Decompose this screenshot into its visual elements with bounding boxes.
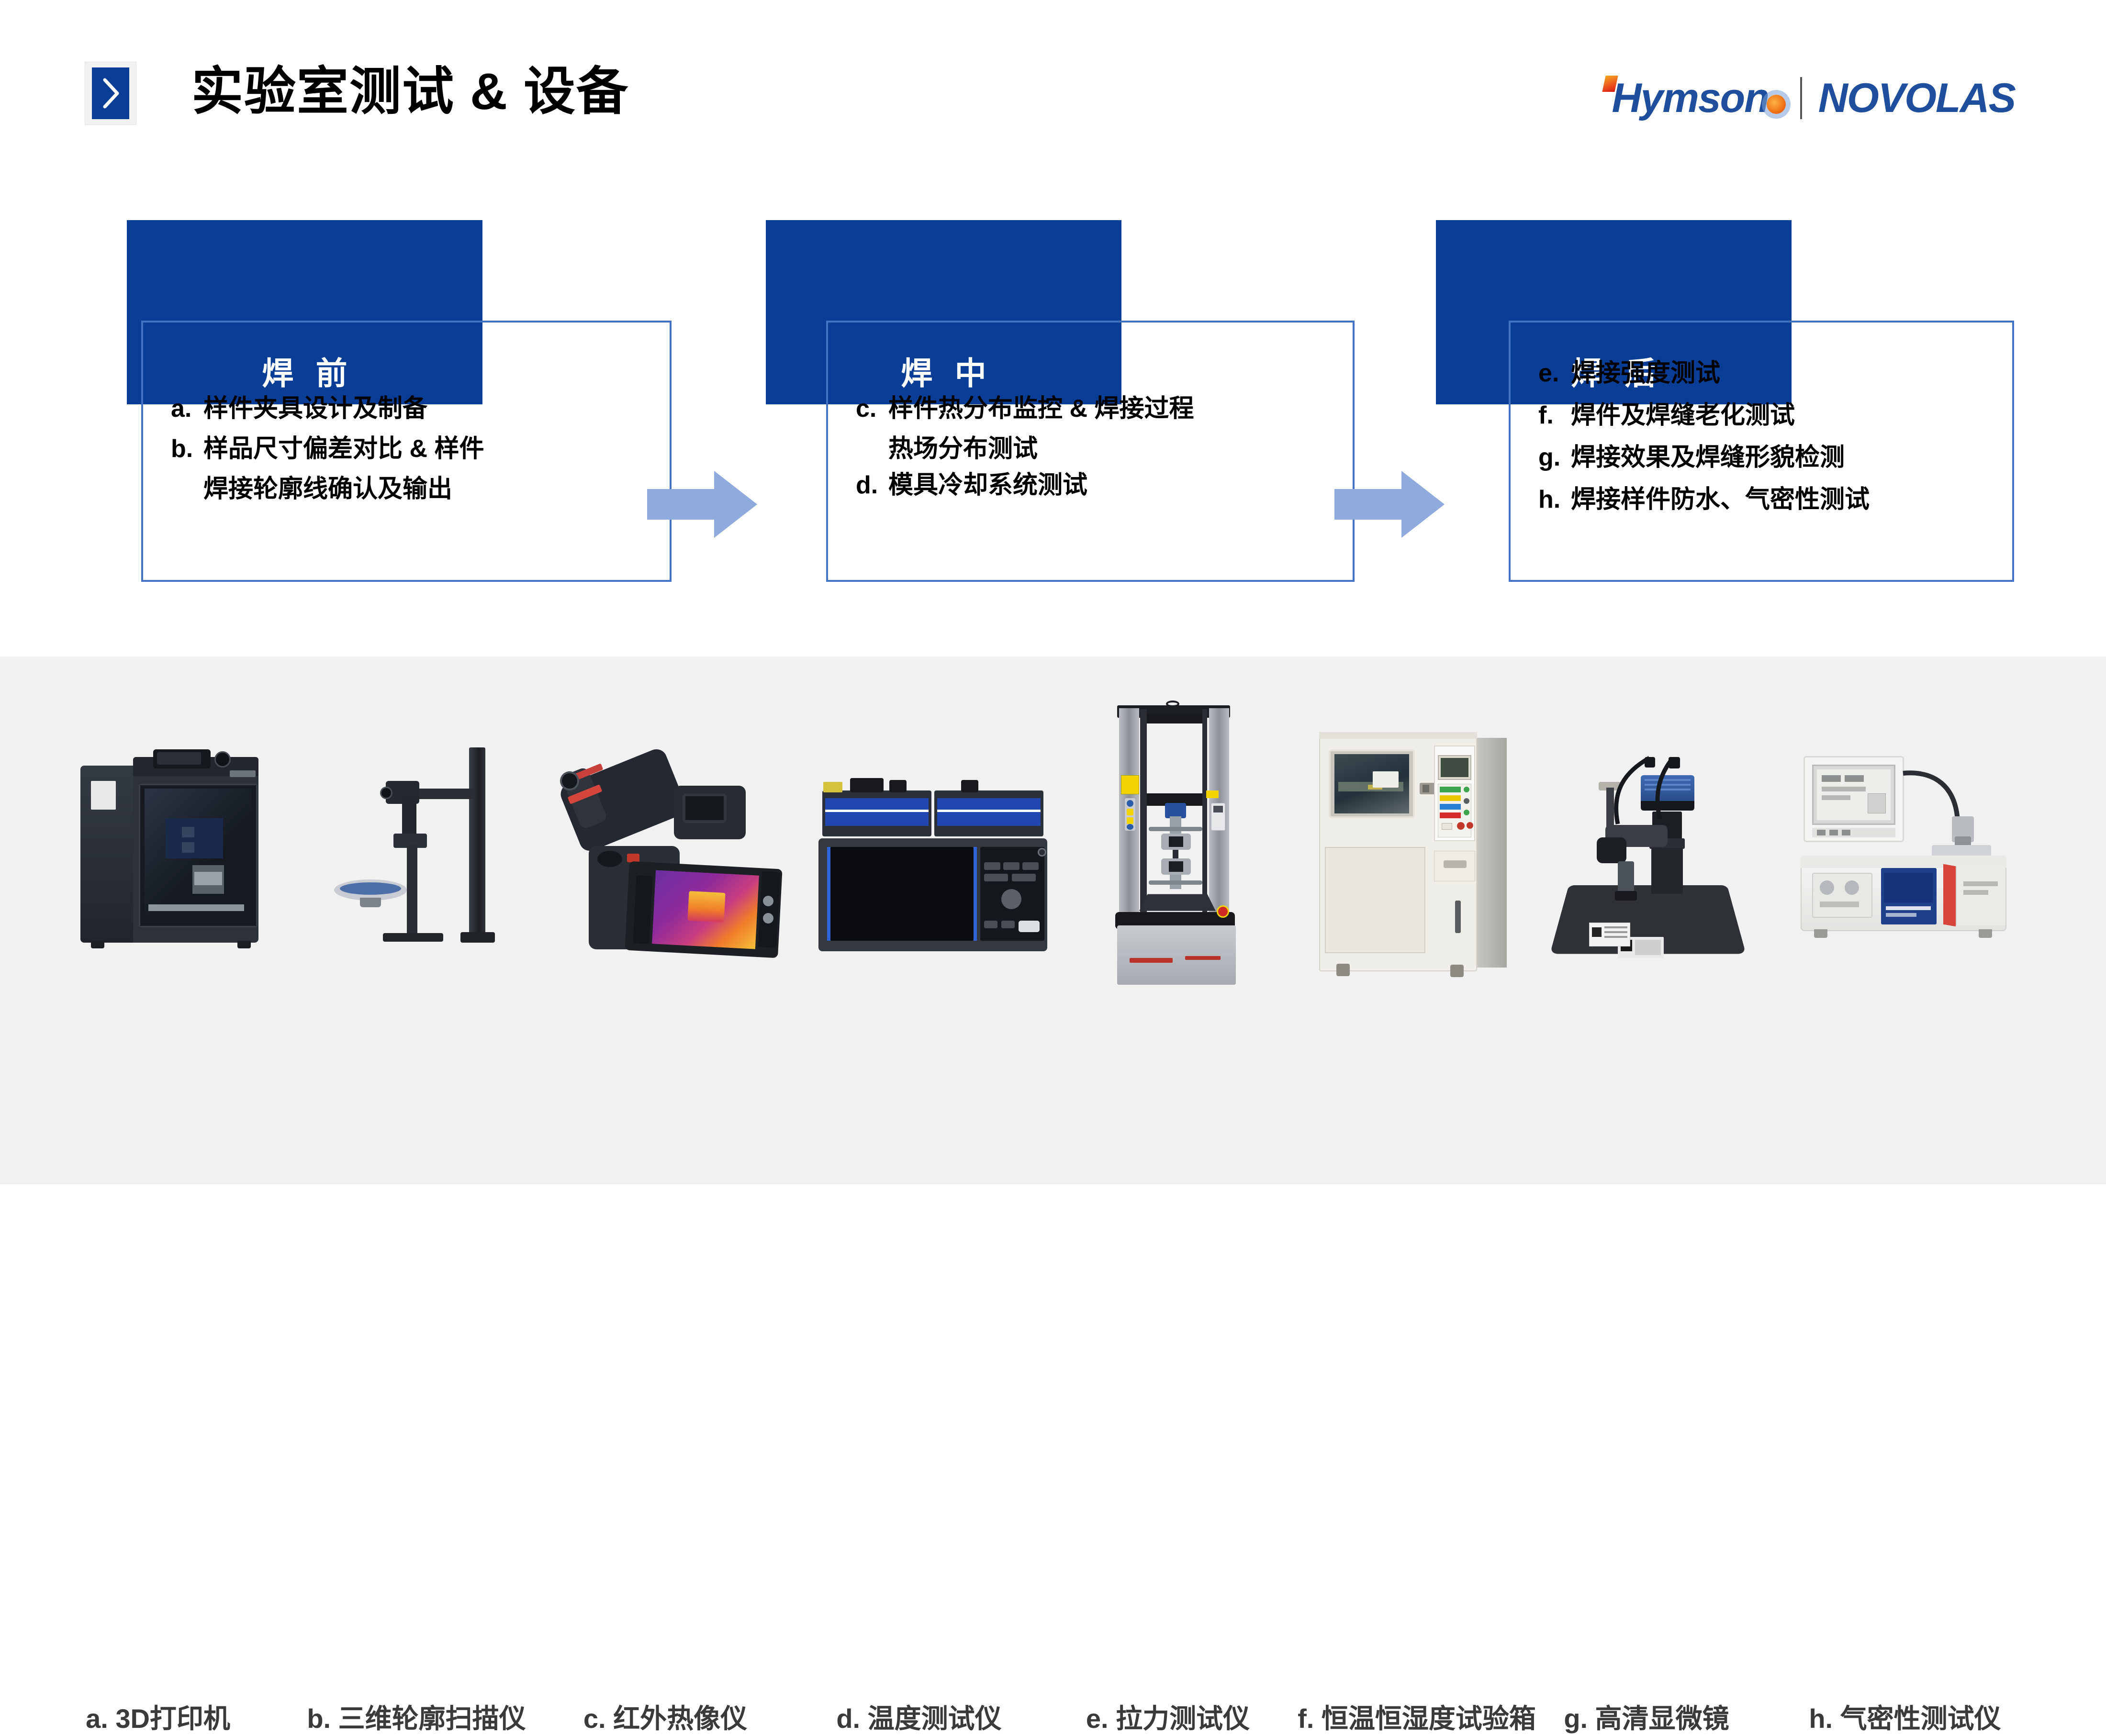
page-header: 实验室测试 & 设备 Hymson NOVOLAS — [0, 0, 2106, 172]
equipment-item-climate-chamber[interactable] — [1292, 709, 1517, 987]
list-item: e. 焊接强度测试 — [1538, 354, 2036, 392]
equipment-item-temperature-logger[interactable] — [809, 771, 1058, 963]
process-flow: 焊 前 a. 样件夹具设计及制备 b. 样品尺寸偏差对比 & 样件 焊接轮廓线确… — [0, 206, 2106, 627]
list-item: d. 模具冷却系统测试 — [856, 467, 1354, 503]
item-marker: h. — [1538, 480, 1571, 519]
equipment-gallery: a. 3D打印机 b. 三维轮廓扫描仪 — [0, 657, 2106, 1184]
stage-card-pre-weld[interactable]: 焊 前 a. 样件夹具设计及制备 b. 样品尺寸偏差对比 & 样件 焊接轮廓线确… — [127, 206, 668, 627]
microscope-photo — [1546, 747, 1752, 977]
item-text: 焊件及焊缝老化测试 — [1571, 396, 2036, 434]
list-item: a. 样件夹具设计及制备 — [171, 390, 669, 427]
item-text-continued: 焊接轮廓线确认及输出 — [171, 471, 669, 507]
temperature-logger-photo — [809, 771, 1058, 963]
stage-items-in-weld: c. 样件热分布监控 & 焊接过程 热场分布测试 d. 模具冷却系统测试 — [856, 390, 1354, 507]
equipment-caption-temperature-logger: d. 温度测试仪 — [804, 1697, 1034, 1736]
equipment-item-airtightness-tester[interactable] — [1785, 743, 2025, 968]
equipment-caption-microscope: g. 高清显微镜 — [1532, 1697, 1761, 1736]
list-item: f. 焊件及焊缝老化测试 — [1538, 396, 2036, 434]
list-item: h. 焊接样件防水、气密性测试 — [1538, 480, 2036, 519]
item-text-continued: 热场分布测试 — [856, 431, 1354, 467]
stage-items-pre-weld: a. 样件夹具设计及制备 b. 样品尺寸偏差对比 & 样件 焊接轮廓线确认及输出 — [171, 390, 669, 507]
item-text: 样件热分布监控 & 焊接过程 — [888, 390, 1354, 427]
logo-separator — [1800, 77, 1802, 119]
equipment-item-profile-scanner[interactable] — [330, 743, 536, 958]
3d-printer-photo — [72, 728, 297, 958]
thermal-camera-photo — [560, 752, 785, 958]
airtightness-tester-photo — [1785, 743, 2025, 968]
right-arrow-icon — [647, 471, 757, 540]
chevron-right-icon — [92, 67, 129, 119]
item-text: 样件夹具设计及制备 — [203, 390, 669, 427]
item-text: 焊接效果及焊缝形貌检测 — [1571, 438, 2036, 477]
item-marker: d. — [856, 467, 888, 503]
item-marker: c. — [856, 390, 888, 427]
item-marker: a. — [171, 390, 203, 427]
right-arrow-icon — [1334, 471, 1445, 540]
climate-chamber-photo — [1292, 709, 1517, 987]
list-item: g. 焊接效果及焊缝形貌检测 — [1538, 438, 2036, 477]
logo-hymson: Hymson — [1599, 78, 1783, 119]
item-text: 焊接样件防水、气密性测试 — [1571, 480, 2036, 519]
item-marker: g. — [1538, 438, 1571, 477]
equipment-caption-airtightness-tester: h. 气密性测试仪 — [1771, 1697, 2039, 1736]
equipment-item-thermal-camera[interactable] — [560, 752, 785, 958]
item-marker: b. — [171, 431, 203, 467]
item-text: 样品尺寸偏差对比 & 样件 — [203, 431, 669, 467]
logo-novolas: NOVOLAS — [1818, 78, 2015, 119]
title-badge — [85, 62, 136, 124]
logo-orb-icon — [1767, 95, 1786, 114]
equipment-item-3d-printer[interactable] — [72, 728, 297, 958]
brand-logo: Hymson NOVOLAS — [1599, 72, 2015, 124]
stage-card-in-weld[interactable]: 焊 中 c. 样件热分布监控 & 焊接过程 热场分布测试 d. 模具冷却系统测试 — [766, 206, 1307, 627]
item-marker: e. — [1538, 354, 1571, 392]
item-text: 模具冷却系统测试 — [888, 467, 1354, 503]
equipment-item-microscope[interactable] — [1546, 747, 1752, 977]
equipment-caption-profile-scanner: b. 三维轮廓扫描仪 — [287, 1697, 546, 1736]
equipment-item-tensile-tester[interactable] — [1096, 690, 1278, 987]
item-text: 焊接强度测试 — [1571, 354, 2036, 392]
equipment-caption-climate-chamber: f. 恒温恒湿度试验箱 — [1268, 1697, 1565, 1736]
profile-scanner-photo — [330, 743, 536, 958]
stage-items-post-weld: e. 焊接强度测试 f. 焊件及焊缝老化测试 g. 焊接效果及焊缝形貌检测 h.… — [1538, 354, 2036, 523]
stage-card-post-weld[interactable]: 焊 后 e. 焊接强度测试 f. 焊件及焊缝老化测试 g. 焊接效果及焊缝形貌检… — [1436, 206, 2010, 627]
logo-hymson-text: Hymson — [1612, 75, 1768, 121]
list-item: b. 样品尺寸偏差对比 & 样件 — [171, 431, 669, 467]
list-item: c. 样件热分布监控 & 焊接过程 — [856, 390, 1354, 427]
tensile-tester-photo — [1096, 690, 1278, 987]
page-title: 实验室测试 & 设备 — [191, 60, 629, 122]
equipment-caption-thermal-camera: c. 红外热像仪 — [550, 1697, 780, 1736]
item-marker: f. — [1538, 396, 1571, 434]
equipment-caption-3d-printer: a. 3D打印机 — [67, 1697, 249, 1736]
logo-novolas-text: NOVOLAS — [1818, 75, 2015, 121]
equipment-caption-tensile-tester: e. 拉力测试仪 — [1053, 1697, 1283, 1736]
